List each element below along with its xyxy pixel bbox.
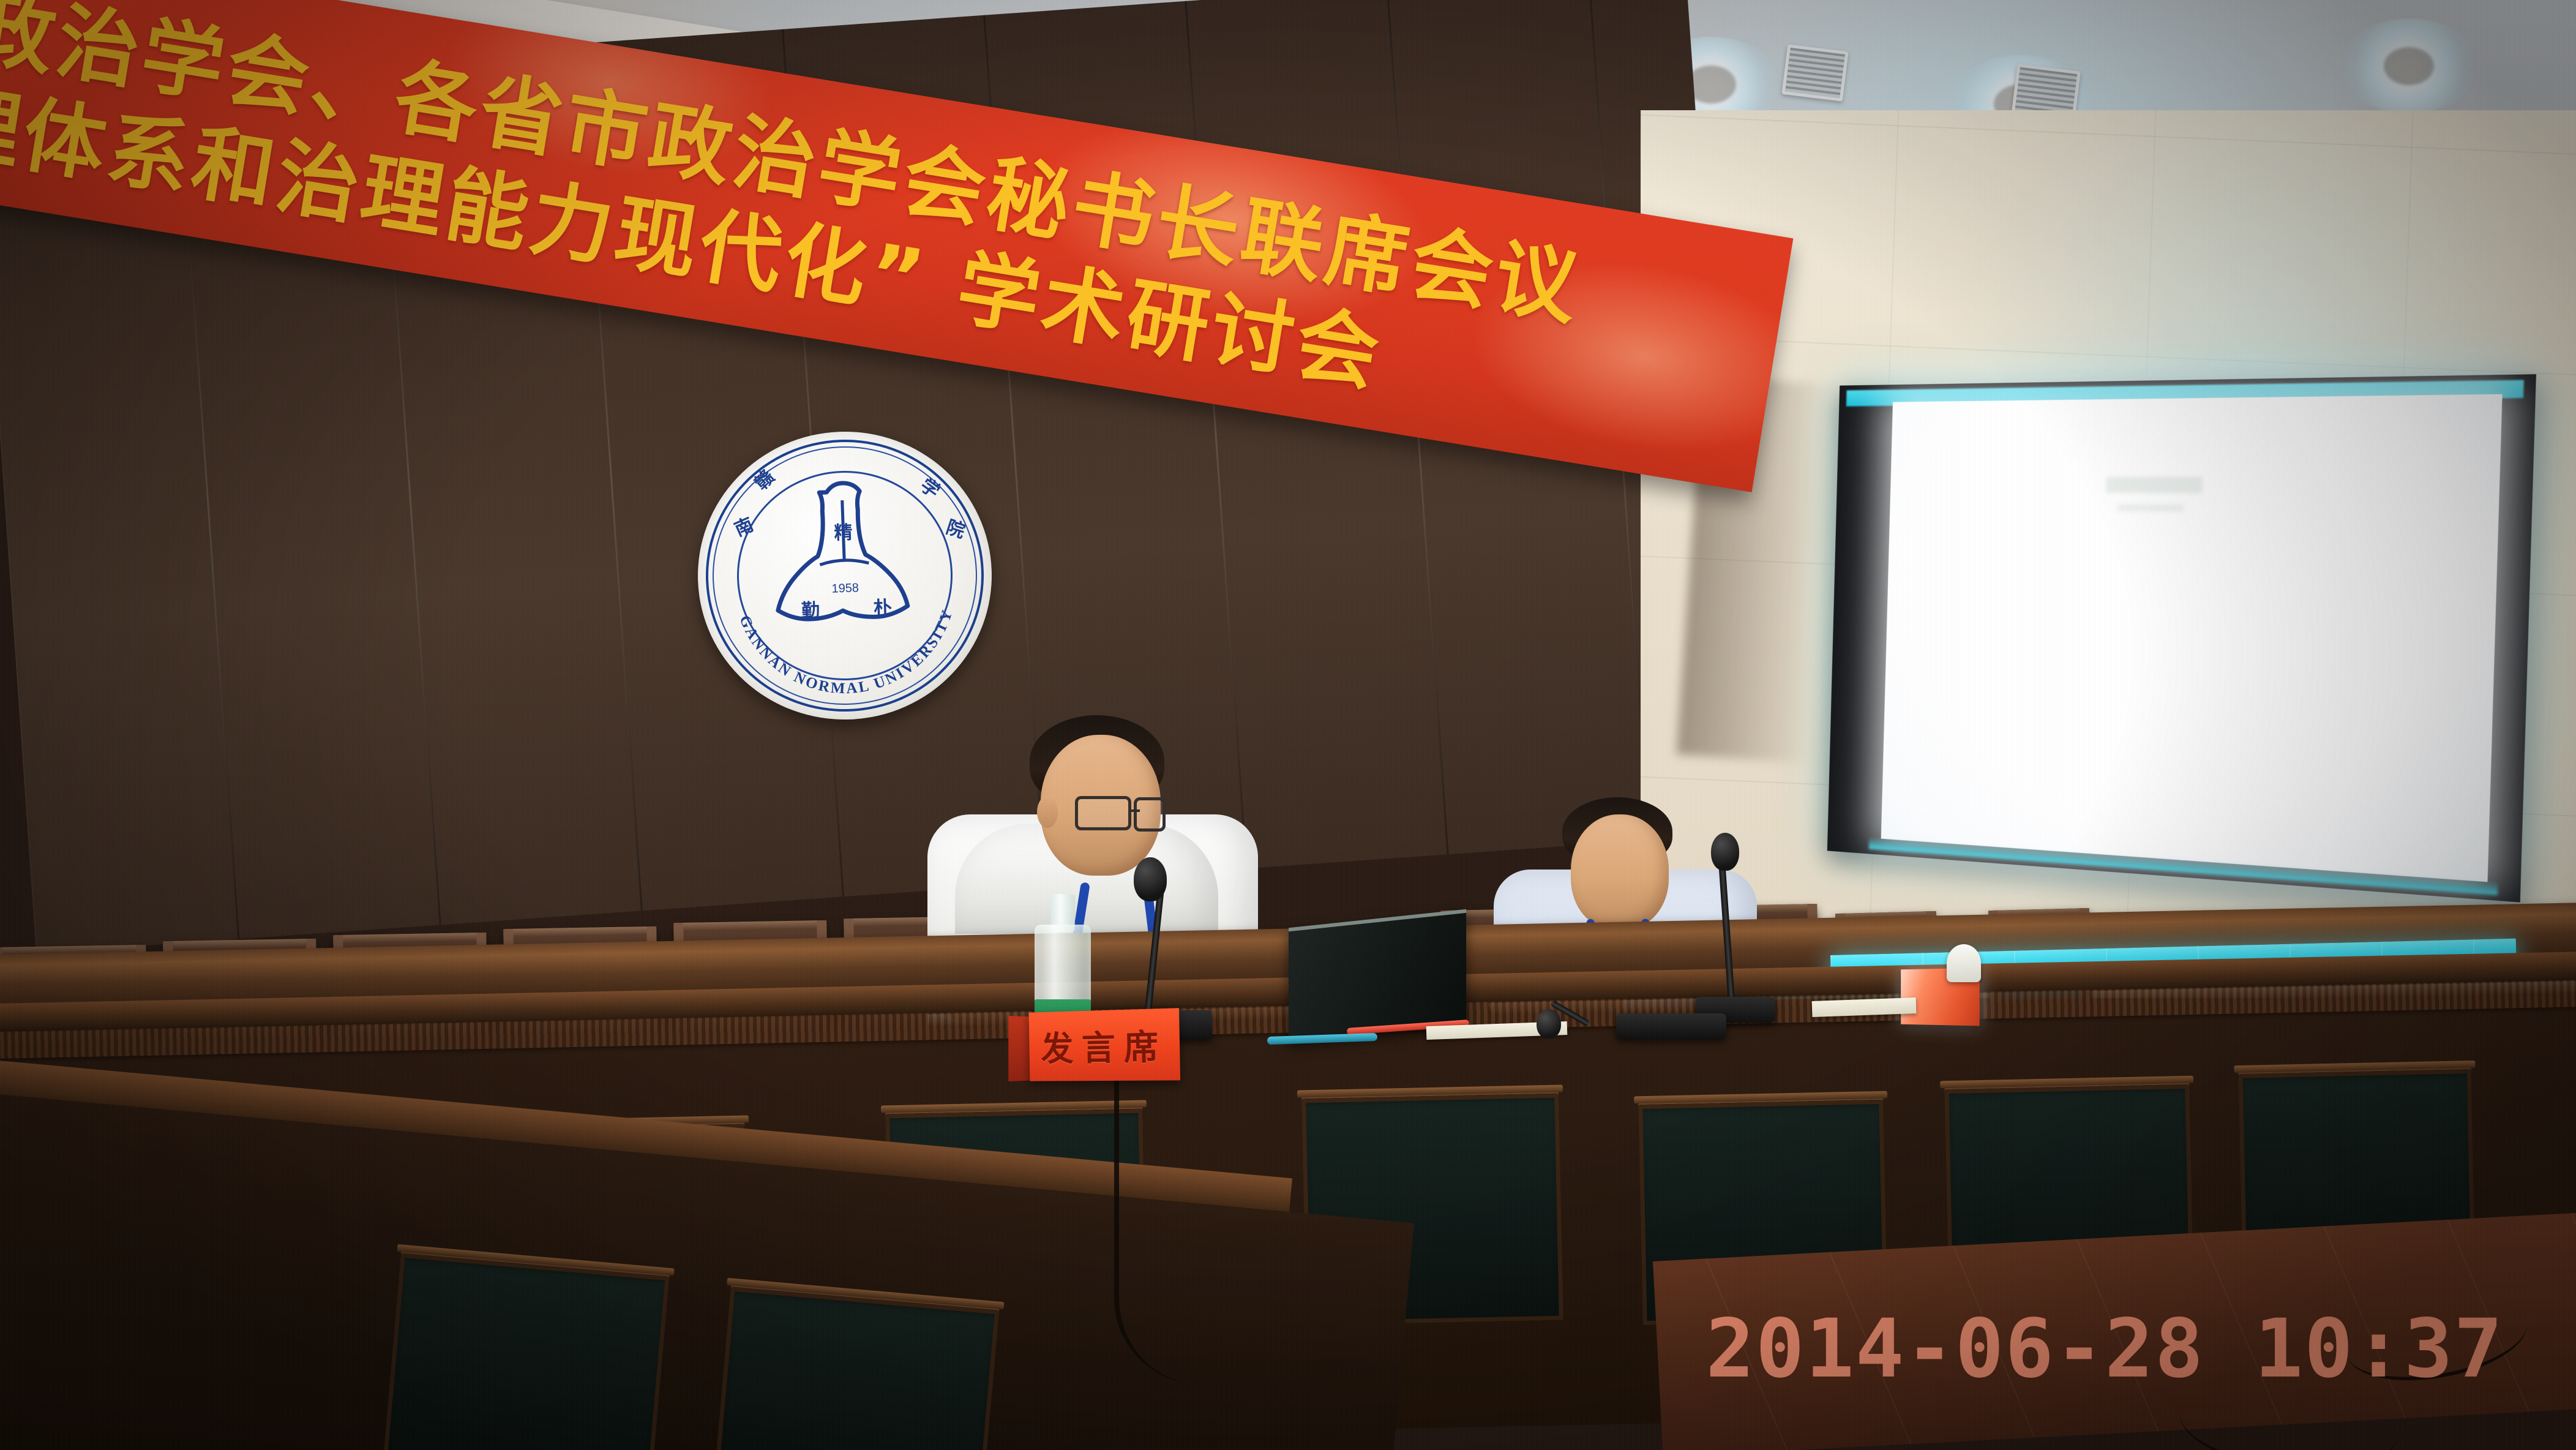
speaker-glasses-bridge (1130, 810, 1140, 812)
emblem-year: 1958 (831, 581, 859, 596)
speaker-name-card: 发言席 (1029, 1008, 1181, 1081)
emblem-cn-4: 院 (943, 517, 967, 543)
emblem-english-text: GANNAN NORMAL UNIVERSITY (736, 606, 959, 701)
microphone-head-icon (1711, 833, 1739, 871)
speaker-glasses-icon (1134, 797, 1166, 832)
participant-head (1571, 814, 1669, 930)
microphone-head-icon (1537, 1009, 1561, 1039)
microphone-head-icon (1134, 857, 1167, 901)
speaker-name-card-text: 发言席 (1041, 1019, 1168, 1071)
emblem-center-char: 精 (834, 522, 853, 544)
university-emblem: GANNAN NORMAL UNIVERSITY 精 1958 勤 朴 赣 南 … (693, 427, 997, 724)
tea-cup (1947, 944, 1981, 982)
camera-timestamp: 2014-06-28 10:37 (1705, 1302, 2504, 1396)
mic-cable (1114, 1041, 1224, 1384)
microphone-base (1616, 1013, 1726, 1039)
speaker-glasses-icon (1075, 796, 1131, 830)
emblem-left-char: 勤 (801, 599, 820, 622)
air-vent-icon (1781, 44, 1848, 102)
front-table-panel (383, 1253, 669, 1450)
emblem-cn-3: 学 (916, 475, 943, 503)
emblem-cn-1: 赣 (751, 466, 779, 495)
projection-surface (1881, 394, 2503, 882)
speaker-ear (1037, 796, 1058, 828)
conference-photo: 国政治学会、各省市政治学会秘书长联席会议 治理体系和治理能力现代化” 学术研讨会… (0, 0, 2576, 1450)
emblem-cn-2: 南 (732, 514, 757, 541)
projection-screen (1827, 374, 2536, 903)
emblem-right-char: 朴 (873, 597, 892, 619)
ceiling-downlight-icon (2338, 18, 2479, 113)
front-table-panel (715, 1287, 999, 1450)
